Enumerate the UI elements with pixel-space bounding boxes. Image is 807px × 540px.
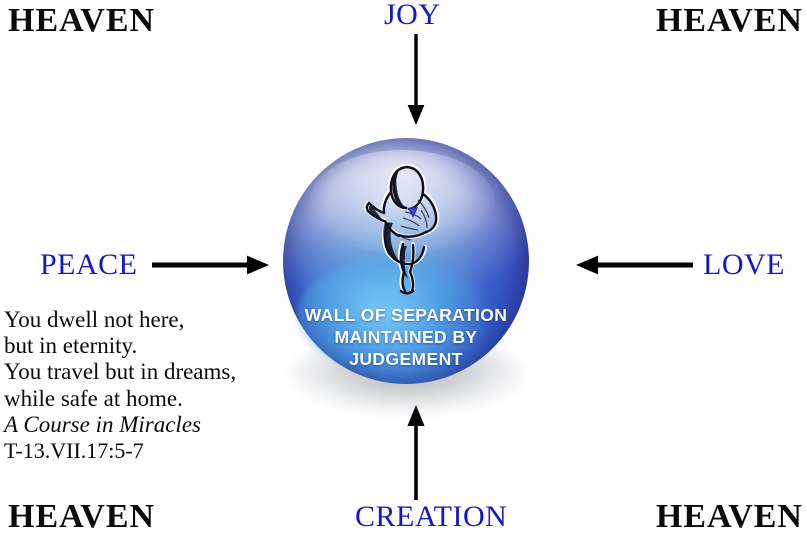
diagram-canvas: HEAVEN HEAVEN HEAVEN HEAVEN JOY PEACE LO… (0, 0, 807, 540)
quote-block: You dwell not here, but in eternity. You… (4, 307, 304, 463)
quote-source: A Course in Miracles (4, 412, 304, 438)
arrow-down-icon-from-joy (400, 34, 432, 126)
heaven-label-top-right: HEAVEN (656, 2, 803, 40)
arrow-right-icon-from-peace (152, 249, 270, 281)
quote-line-4: while safe at home. (4, 386, 304, 412)
quote-line-2: but in eternity. (4, 333, 304, 359)
sphere-body (283, 138, 529, 384)
label-creation: CREATION (355, 500, 507, 534)
quote-line-1: You dwell not here, (4, 307, 304, 333)
arrow-up-icon-from-creation (400, 404, 432, 500)
arrow-left-icon-from-love (575, 249, 693, 281)
quote-line-3: You travel but in dreams, (4, 359, 304, 385)
quote-reference: T-13.VII.17:5-7 (4, 438, 304, 463)
heaven-label-top-left: HEAVEN (8, 2, 155, 40)
label-peace: PEACE (40, 248, 138, 282)
label-love: LOVE (703, 248, 785, 282)
heaven-label-bottom-left: HEAVEN (8, 498, 155, 536)
label-joy: JOY (384, 0, 441, 32)
wall-of-separation-sphere: WALL OF SEPARATION MAINTAINED BY JUDGEME… (283, 138, 531, 386)
heaven-label-bottom-right: HEAVEN (656, 498, 803, 536)
